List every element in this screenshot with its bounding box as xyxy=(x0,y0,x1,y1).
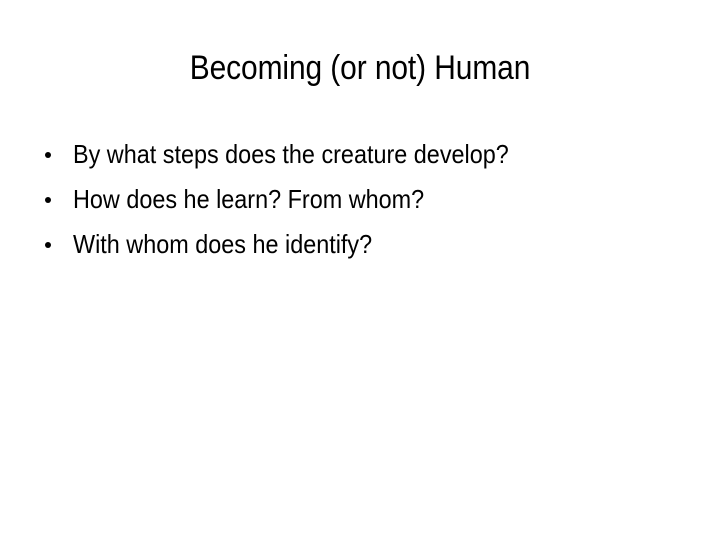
bullet-dot-icon xyxy=(45,197,51,203)
bullet-dot-icon xyxy=(45,152,51,158)
slide-title: Becoming (or not) Human xyxy=(43,48,677,88)
list-item: With whom does he identify? xyxy=(44,222,684,267)
presentation-slide: Becoming (or not) Human By what steps do… xyxy=(0,0,720,540)
list-item-label: How does he learn? From whom? xyxy=(73,177,424,222)
list-item-label: With whom does he identify? xyxy=(73,222,372,267)
list-item: By what steps does the creature develop? xyxy=(44,132,684,177)
slide-bullet-list: By what steps does the creature develop?… xyxy=(44,132,684,267)
bullet-dot-icon xyxy=(45,242,51,248)
list-item: How does he learn? From whom? xyxy=(44,177,684,222)
list-item-label: By what steps does the creature develop? xyxy=(73,132,509,177)
